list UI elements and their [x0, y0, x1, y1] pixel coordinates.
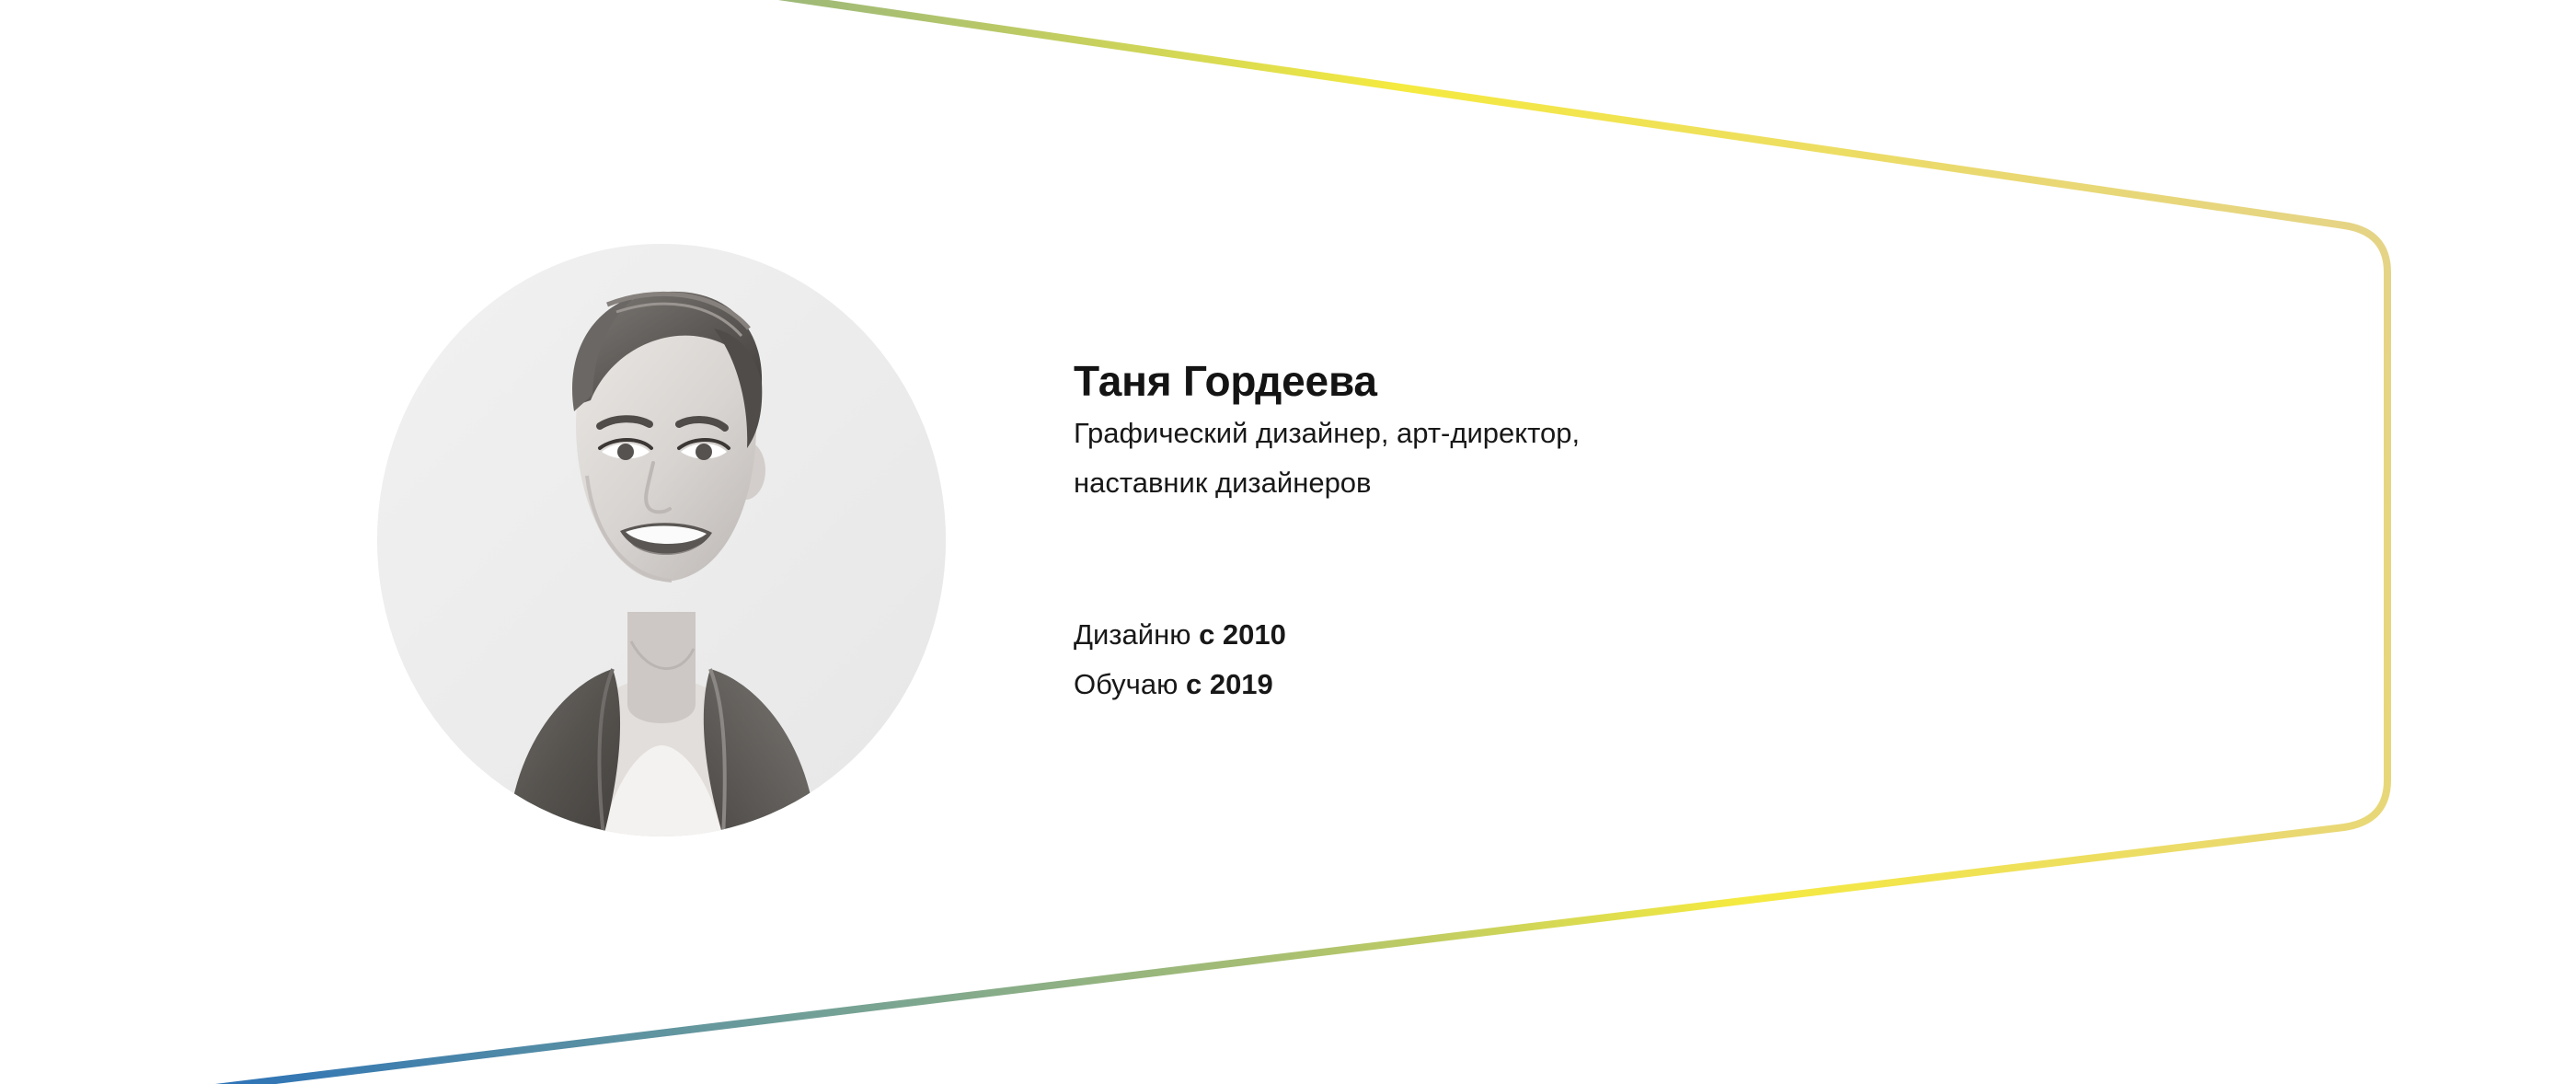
portrait-illustration: [377, 244, 946, 836]
fact-row-teaching: Обучаю с 2019: [1074, 660, 1286, 709]
experience-facts: Дизайню с 2010 Обучаю с 2019: [1074, 610, 1286, 709]
fact-value-design: с 2010: [1199, 618, 1286, 651]
frame-path: [0, 0, 2387, 1084]
fact-value-teaching: с 2019: [1186, 668, 1273, 700]
fact-row-design: Дизайню с 2010: [1074, 610, 1286, 660]
role-line-1: Графический дизайнер, арт-директор,: [1074, 409, 2178, 458]
slide-root: Таня Гордеева Графический дизайнер, арт-…: [0, 0, 2576, 1084]
page-title: Таня Гордеева: [1074, 355, 2178, 407]
fact-label-design: Дизайню: [1074, 618, 1190, 651]
avatar: [377, 244, 946, 836]
fact-label-teaching: Обучаю: [1074, 668, 1178, 700]
role-line-2: наставник дизайнеров: [1074, 458, 2178, 508]
profile-text-column: Таня Гордеева Графический дизайнер, арт-…: [1074, 355, 2178, 508]
